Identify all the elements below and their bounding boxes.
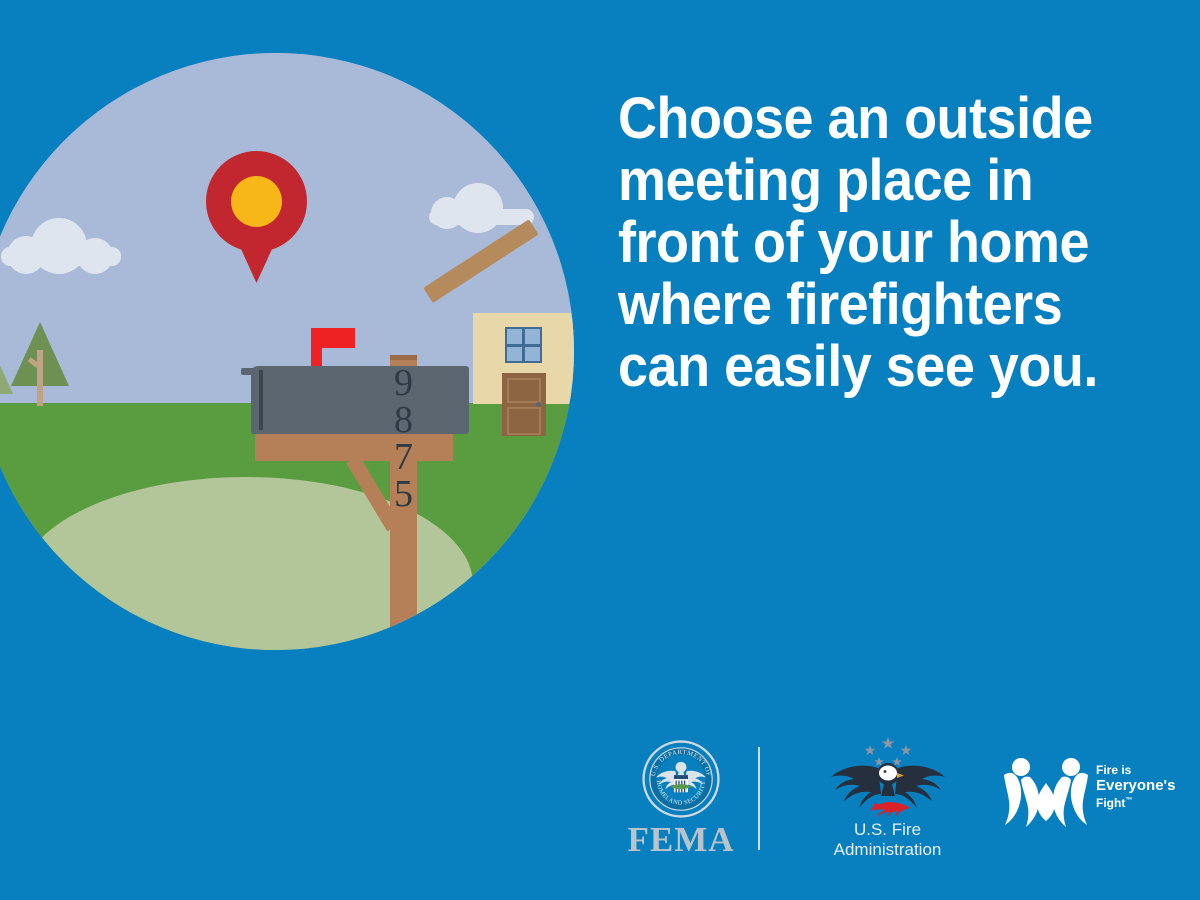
- usfa-label: U.S. Fire Administration: [795, 820, 980, 860]
- house-number-digit: 8: [390, 402, 417, 439]
- house-number-digit: 7: [390, 439, 417, 476]
- poster-canvas: 9 8 7 5 Choose an outside meeting place …: [0, 0, 1200, 900]
- usfa-label-line2: Administration: [795, 840, 980, 860]
- fema-wordmark: FEMA: [622, 822, 740, 857]
- mailbox-body: [251, 366, 469, 434]
- cloud-icon: [429, 183, 534, 225]
- fire-is-everyones-fight-logo: Fire is Everyone's Fight™: [1000, 749, 1180, 839]
- door-panel-bottom: [507, 407, 541, 435]
- trademark-symbol: ™: [1125, 797, 1132, 804]
- logo-bar: U.S. DEPARTMENT OF HOMELAND SECURITY: [600, 735, 1190, 865]
- mailbox-illustration: 9 8 7 5: [235, 313, 475, 650]
- fief-line3: Fight™: [1096, 793, 1180, 811]
- fief-line1: Fire is: [1096, 763, 1180, 778]
- cloud-base: [429, 209, 534, 225]
- cloud-base: [1, 247, 121, 266]
- window-mullion-horizontal: [507, 344, 540, 347]
- fief-line2: Everyone's: [1096, 778, 1180, 793]
- house-number-digit: 5: [390, 476, 417, 513]
- tree-trunk: [37, 350, 43, 406]
- cloud-icon: [1, 218, 121, 266]
- mailbox-plank: [255, 433, 453, 461]
- usfa-eagle-icon: [823, 735, 953, 820]
- usfa-label-line1: U.S. Fire: [795, 820, 980, 840]
- mailbox-flag: [311, 328, 355, 348]
- house-window: [505, 327, 542, 363]
- illustration-circle: 9 8 7 5: [0, 53, 574, 650]
- two-figures-flame-icon: [1000, 753, 1092, 827]
- door-panel-top: [507, 378, 541, 403]
- tree-canopy: [0, 348, 13, 394]
- page-headline: Choose an outside meeting place in front…: [618, 88, 1120, 398]
- logo-divider: [758, 747, 760, 850]
- pin-center-dot: [231, 176, 282, 227]
- tree-icon: [0, 348, 13, 408]
- mailbox-house-number: 9 8 7 5: [390, 365, 417, 513]
- house-number-digit: 9: [390, 365, 417, 402]
- house-door: [502, 373, 546, 436]
- tree-icon: [11, 322, 69, 406]
- mailbox-post-cap: [390, 355, 417, 360]
- fema-logo: U.S. DEPARTMENT OF HOMELAND SECURITY: [622, 740, 740, 855]
- fire-is-everyones-fight-text: Fire is Everyone's Fight™: [1096, 763, 1180, 811]
- mailbox-door-edge: [259, 370, 263, 430]
- door-knob-icon: [536, 402, 541, 407]
- usfa-logo: U.S. Fire Administration: [795, 735, 980, 860]
- fief-fight-word: Fight: [1096, 796, 1125, 810]
- location-pin-icon: [206, 151, 307, 283]
- dhs-seal-icon: U.S. DEPARTMENT OF HOMELAND SECURITY: [642, 740, 720, 818]
